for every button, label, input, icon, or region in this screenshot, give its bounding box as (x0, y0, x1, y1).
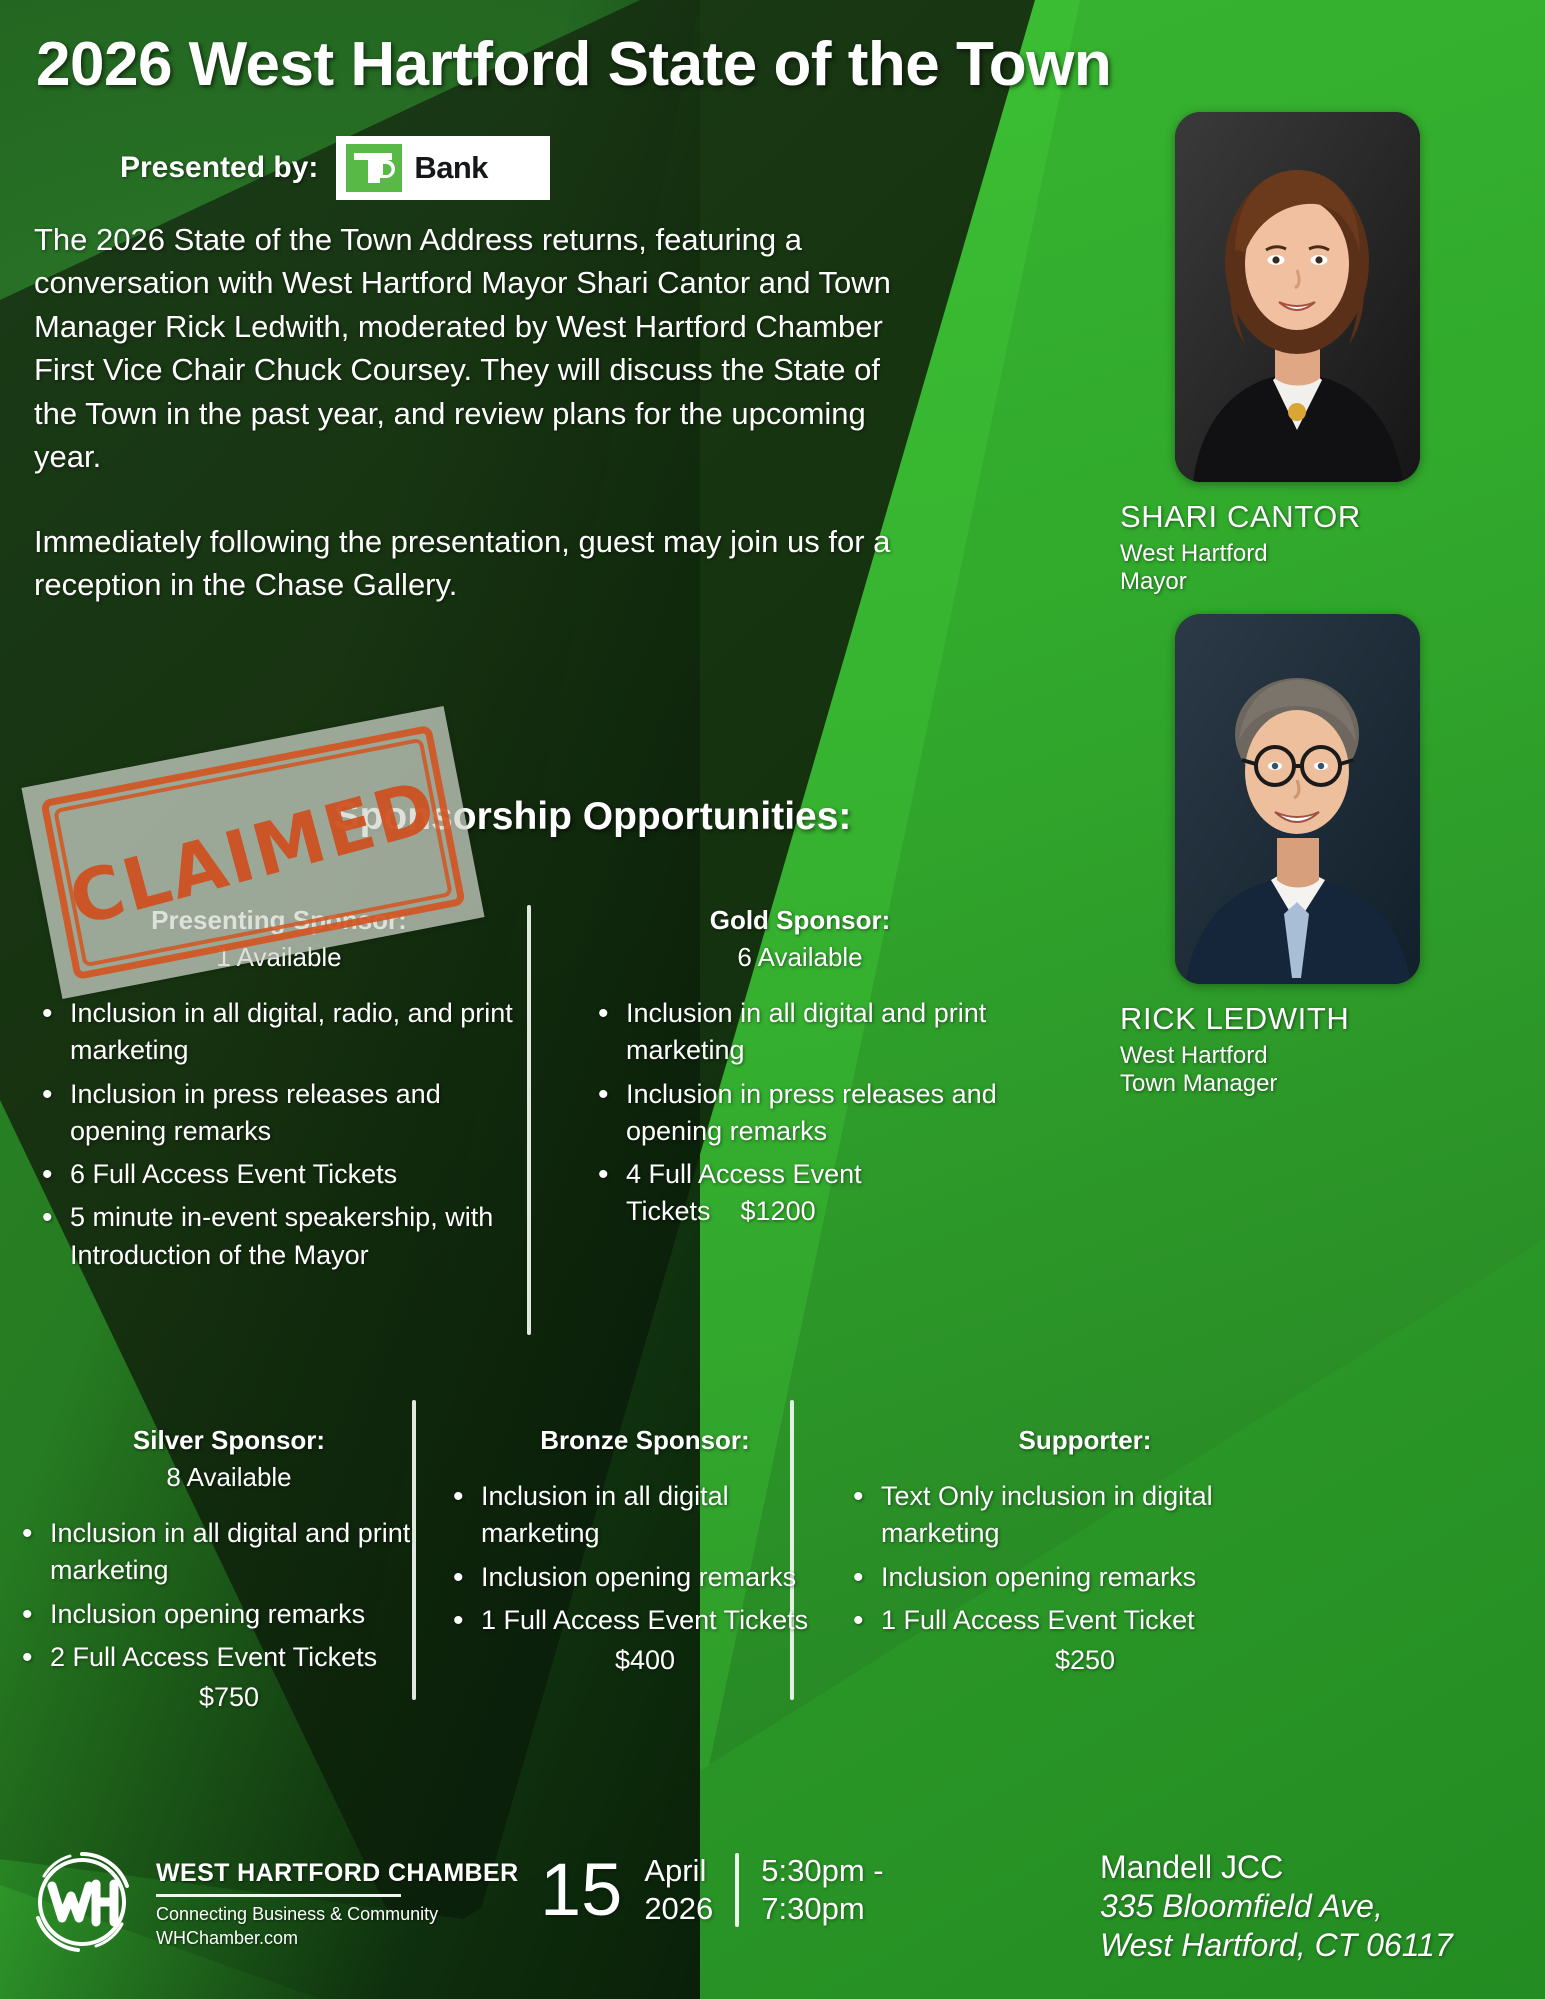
tier-benefit: Inclusion opening remarks (445, 1559, 845, 1596)
tier-available: 8 Available (14, 1462, 444, 1493)
event-time-start: 5:30pm - (761, 1852, 883, 1890)
tier-benefit: Inclusion in press releases and opening … (590, 1076, 1010, 1151)
tier-price: $400 (445, 1645, 845, 1676)
venue-city: West Hartford, CT 06117 (1100, 1926, 1453, 1965)
column-divider (527, 905, 531, 1335)
tier-benefit-list: Inclusion in all digital, radio, and pri… (34, 995, 524, 1274)
speaker-card-shari-cantor: SHARI CANTOR West Hartford Mayor (1175, 112, 1420, 597)
chamber-url: WHChamber.com (156, 1928, 519, 1949)
tier-benefit: Inclusion in all digital and print marke… (14, 1515, 444, 1590)
chamber-text-block: WEST HARTFORD CHAMBER Connecting Busines… (156, 1855, 519, 1949)
event-year: 2026 (644, 1890, 713, 1928)
tier-benefit: Inclusion opening remarks (845, 1559, 1325, 1596)
chamber-name: WEST HARTFORD CHAMBER (156, 1859, 519, 1888)
tier-benefit: Text Only inclusion in digital marketing (845, 1478, 1325, 1553)
tier-benefit: 2 Full Access Event Tickets (14, 1639, 444, 1676)
reception-paragraph: Immediately following the presentation, … (34, 520, 904, 607)
tier-title: Silver Sponsor: (14, 1425, 444, 1456)
chamber-logo-block: WEST HARTFORD CHAMBER Connecting Busines… (26, 1846, 519, 1958)
portrait-shari-cantor (1175, 112, 1420, 482)
tier-benefit: Inclusion in press releases and opening … (34, 1076, 524, 1151)
presented-by-row: Presented by: Bank (120, 136, 550, 200)
event-time: 5:30pm - 7:30pm (761, 1852, 883, 1928)
speaker-name: SHARI CANTOR (1120, 499, 1420, 535)
tier-benefit-list: Text Only inclusion in digital marketing… (845, 1478, 1325, 1639)
sponsor-tier-bronze: Bronze Sponsor: Inclusion in all digital… (445, 1425, 845, 1676)
speaker-role: West Hartford Mayor (1120, 540, 1420, 597)
tier-benefit-list: Inclusion in all digital and print marke… (590, 995, 1010, 1231)
tier-benefit: 6 Full Access Event Tickets (34, 1156, 524, 1193)
tier-benefit-list: Inclusion in all digital marketing Inclu… (445, 1478, 845, 1639)
td-bank-wordmark: Bank (414, 150, 487, 186)
tier-available: 6 Available (590, 942, 1010, 973)
event-month: April (644, 1852, 713, 1890)
presented-by-label: Presented by: (120, 151, 318, 185)
tier-price: $250 (845, 1645, 1325, 1676)
tier-benefit: 4 Full Access Event Tickets$1200 (590, 1156, 1010, 1231)
speaker-name: RICK LEDWITH (1120, 1001, 1420, 1037)
tier-benefit: Inclusion in all digital, radio, and pri… (34, 995, 524, 1070)
tier-price: $750 (14, 1682, 444, 1713)
tier-benefit: 1 Full Access Event Tickets (445, 1602, 845, 1639)
event-datetime-block: 15 April 2026 5:30pm - 7:30pm (540, 1852, 884, 1928)
td-bank-logo: Bank (336, 136, 550, 200)
venue-name: Mandell JCC (1100, 1848, 1453, 1887)
tier-title: Supporter: (845, 1425, 1325, 1456)
tier-title: Gold Sponsor: (590, 905, 1010, 936)
wh-monogram-icon (26, 1846, 138, 1958)
td-monogram-icon (346, 144, 402, 192)
sponsor-tier-supporter: Supporter: Text Only inclusion in digita… (845, 1425, 1325, 1676)
tier-benefit-list: Inclusion in all digital and print marke… (14, 1515, 444, 1676)
tier-benefit: 1 Full Access Event Ticket (845, 1602, 1325, 1639)
speaker-role: West Hartford Town Manager (1120, 1042, 1420, 1099)
tier-benefit: Inclusion opening remarks (14, 1596, 444, 1633)
tier-benefit: 5 minute in-event speakership, with Intr… (34, 1199, 524, 1274)
venue-street: 335 Bloomfield Ave, (1100, 1887, 1453, 1926)
datetime-divider (735, 1853, 739, 1927)
sponsor-tier-silver: Silver Sponsor: 8 Available Inclusion in… (14, 1425, 444, 1713)
tier-benefit: Inclusion in all digital and print marke… (590, 995, 1010, 1070)
speaker-card-rick-ledwith: RICK LEDWITH West Hartford Town Manager (1175, 614, 1420, 1099)
tier-price: $1200 (741, 1196, 816, 1226)
event-flyer: 2026 West Hartford State of the Town Pre… (0, 0, 1545, 1999)
chamber-tagline: Connecting Business & Community (156, 1904, 519, 1925)
event-time-end: 7:30pm (761, 1890, 883, 1928)
event-day: 15 (540, 1855, 622, 1925)
event-month-year: April 2026 (644, 1852, 713, 1928)
chamber-divider (156, 1894, 401, 1897)
portrait-rick-ledwith (1175, 614, 1420, 984)
tier-title: Bronze Sponsor: (445, 1425, 845, 1456)
tier-benefit: Inclusion in all digital marketing (445, 1478, 845, 1553)
event-venue-block: Mandell JCC 335 Bloomfield Ave, West Har… (1100, 1848, 1453, 1965)
sponsor-tier-gold: Gold Sponsor: 6 Available Inclusion in a… (590, 905, 1010, 1237)
page-title: 2026 West Hartford State of the Town (36, 32, 1216, 97)
intro-paragraph: The 2026 State of the Town Address retur… (34, 218, 914, 478)
